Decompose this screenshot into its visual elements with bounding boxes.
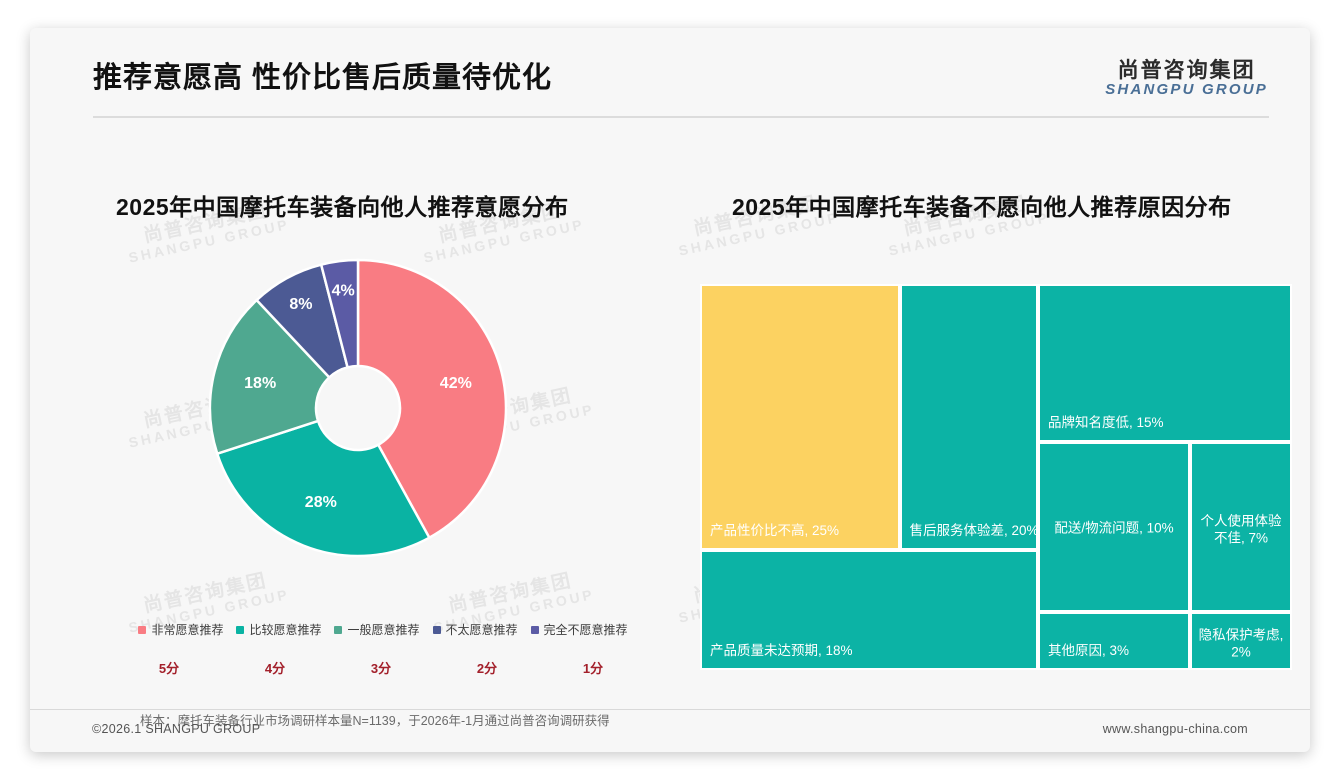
treemap-cell[interactable]: 产品质量未达预期, 18%	[700, 550, 1038, 670]
pie-chart-panel: 2025年中国摩托车装备向他人推荐意愿分布 42%28%18%8%4% 非常愿意…	[88, 166, 678, 686]
treemap-cell[interactable]: 个人使用体验不佳, 7%	[1190, 442, 1292, 612]
legend-swatch-icon	[236, 626, 244, 634]
treemap-cell[interactable]: 隐私保护考虑, 2%	[1190, 612, 1292, 670]
brand-logo: 尚普咨询集团 SHANGPU GROUP	[1105, 60, 1268, 98]
legend-item[interactable]: 非常愿意推荐	[138, 621, 223, 638]
legend-item[interactable]: 一般愿意推荐	[334, 621, 419, 638]
treemap-chart: 产品性价比不高, 25%产品质量未达预期, 18%售后服务体验差, 20%品牌知…	[700, 284, 1292, 670]
pie-chart-title: 2025年中国摩托车装备向他人推荐意愿分布	[116, 188, 569, 222]
donut-slice-label: 8%	[289, 296, 312, 313]
score-label: 3分	[328, 658, 434, 677]
treemap-cell[interactable]: 配送/物流问题, 10%	[1038, 442, 1190, 612]
score-label: 5分	[116, 658, 222, 677]
legend-label: 不太愿意推荐	[446, 621, 518, 638]
legend-label: 完全不愿意推荐	[544, 621, 628, 638]
legend-item[interactable]: 比较愿意推荐	[236, 621, 321, 638]
donut-slice-label: 42%	[440, 375, 472, 392]
website-link[interactable]: www.shangpu-china.com	[1103, 722, 1248, 736]
header-divider	[93, 116, 1269, 118]
donut-chart-svg: 42%28%18%8%4%	[208, 258, 508, 558]
legend-item[interactable]: 不太愿意推荐	[433, 621, 518, 638]
treemap-cell-label: 其他原因, 3%	[1048, 643, 1182, 660]
score-label: 2分	[434, 658, 540, 677]
treemap-cell-label: 隐私保护考虑, 2%	[1196, 628, 1286, 662]
legend-label: 比较愿意推荐	[249, 621, 321, 638]
treemap-cell[interactable]: 品牌知名度低, 15%	[1038, 284, 1292, 442]
treemap-cell-label: 配送/物流问题, 10%	[1044, 520, 1184, 537]
treemap-cell[interactable]: 售后服务体验差, 20%	[900, 284, 1039, 550]
legend-swatch-icon	[334, 626, 342, 634]
treemap-cell-label: 个人使用体验不佳, 7%	[1196, 514, 1286, 548]
pie-chart-legend: 非常愿意推荐比较愿意推荐一般愿意推荐不太愿意推荐完全不愿意推荐	[88, 621, 678, 638]
donut-slice-label: 4%	[332, 283, 355, 300]
legend-label: 一般愿意推荐	[347, 621, 419, 638]
score-label: 4分	[222, 658, 328, 677]
legend-swatch-icon	[138, 626, 146, 634]
legend-label: 非常愿意推荐	[151, 621, 223, 638]
donut-slice-label: 28%	[305, 494, 337, 511]
legend-swatch-icon	[531, 626, 539, 634]
treemap-cell-label: 产品质量未达预期, 18%	[710, 643, 1030, 660]
slide-footer: ©2026.1 SHANGPU GROUP www.shangpu-china.…	[30, 709, 1310, 752]
copyright-text: ©2026.1 SHANGPU GROUP	[92, 722, 260, 736]
treemap-cell-label: 品牌知名度低, 15%	[1048, 415, 1284, 432]
treemap-cell-label: 产品性价比不高, 25%	[710, 523, 892, 540]
treemap-cell-label: 售后服务体验差, 20%	[910, 523, 1031, 540]
treemap-cell[interactable]: 其他原因, 3%	[1038, 612, 1190, 670]
legend-swatch-icon	[433, 626, 441, 634]
score-scale-row: 5分4分3分2分1分	[116, 658, 646, 677]
donut-slice-label: 18%	[244, 375, 276, 392]
logo-english-text: SHANGPU GROUP	[1105, 82, 1268, 98]
score-label: 1分	[540, 658, 646, 677]
treemap-panel: 2025年中国摩托车装备不愿向他人推荐原因分布 产品性价比不高, 25%产品质量…	[698, 166, 1288, 686]
page-title: 推荐意愿高 性价比售后质量待优化	[93, 54, 552, 96]
slide-canvas: 尚普咨询集团SHANGPU GROUP尚普咨询集团SHANGPU GROUP尚普…	[30, 28, 1310, 752]
treemap-title: 2025年中国摩托车装备不愿向他人推荐原因分布	[732, 188, 1232, 222]
slide-header: 推荐意愿高 性价比售后质量待优化 尚普咨询集团 SHANGPU GROUP	[30, 28, 1310, 118]
donut-chart: 42%28%18%8%4%	[208, 258, 508, 558]
treemap-cell[interactable]: 产品性价比不高, 25%	[700, 284, 900, 550]
legend-item[interactable]: 完全不愿意推荐	[531, 621, 628, 638]
logo-chinese-text: 尚普咨询集团	[1105, 60, 1268, 82]
